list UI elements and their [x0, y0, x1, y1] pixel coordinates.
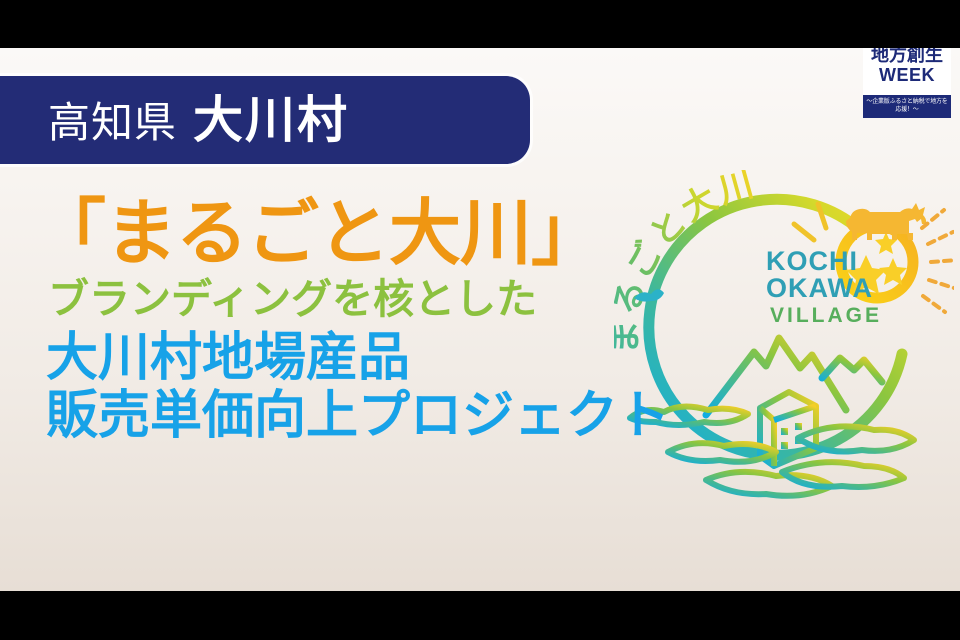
sun-rays: [922, 210, 954, 312]
event-badge-footer: 〜企業版ふるさと納税で地方を応援！〜: [863, 95, 951, 118]
prefecture-banner-inner: 高知県 大川村: [0, 95, 349, 145]
prefecture-banner: 高知県 大川村: [0, 76, 530, 164]
logo-center-line-1: KOCHI: [766, 246, 858, 276]
prefecture-label: 高知県: [48, 102, 177, 144]
mountain-icon: [706, 338, 882, 415]
headline-sub: ブランディングを核とした: [48, 276, 682, 323]
headline-blue-line-1: 大川村地場産品: [46, 329, 682, 387]
village-label: 大川村: [193, 95, 349, 145]
presentation-slide: 高知県 大川村 「まるごと大川」 ブランディングを核とした 大川村地場産品 販売…: [0, 0, 960, 640]
slide-stage: 高知県 大川村 「まるごと大川」 ブランディングを核とした 大川村地場産品 販売…: [0, 48, 960, 591]
headline-main: 「まるごと大川」: [34, 196, 682, 274]
letterbox-bar-bottom: [0, 591, 960, 640]
event-badge-line-2: 地方創生: [871, 46, 943, 65]
logo-center-line-2: OKAWA: [766, 273, 873, 303]
headline-blue-line-2: 販売単価向上プロジェクト: [46, 387, 682, 445]
sun-rays-left: [794, 204, 826, 240]
headline-block: 「まるごと大川」 ブランディングを核とした 大川村地場産品 販売単価向上プロジェ…: [42, 196, 682, 445]
event-badge-line-3: WEEK: [879, 66, 935, 84]
letterbox-bar-top: [0, 0, 960, 48]
logo-center-line-3: VILLAGE: [770, 304, 882, 327]
